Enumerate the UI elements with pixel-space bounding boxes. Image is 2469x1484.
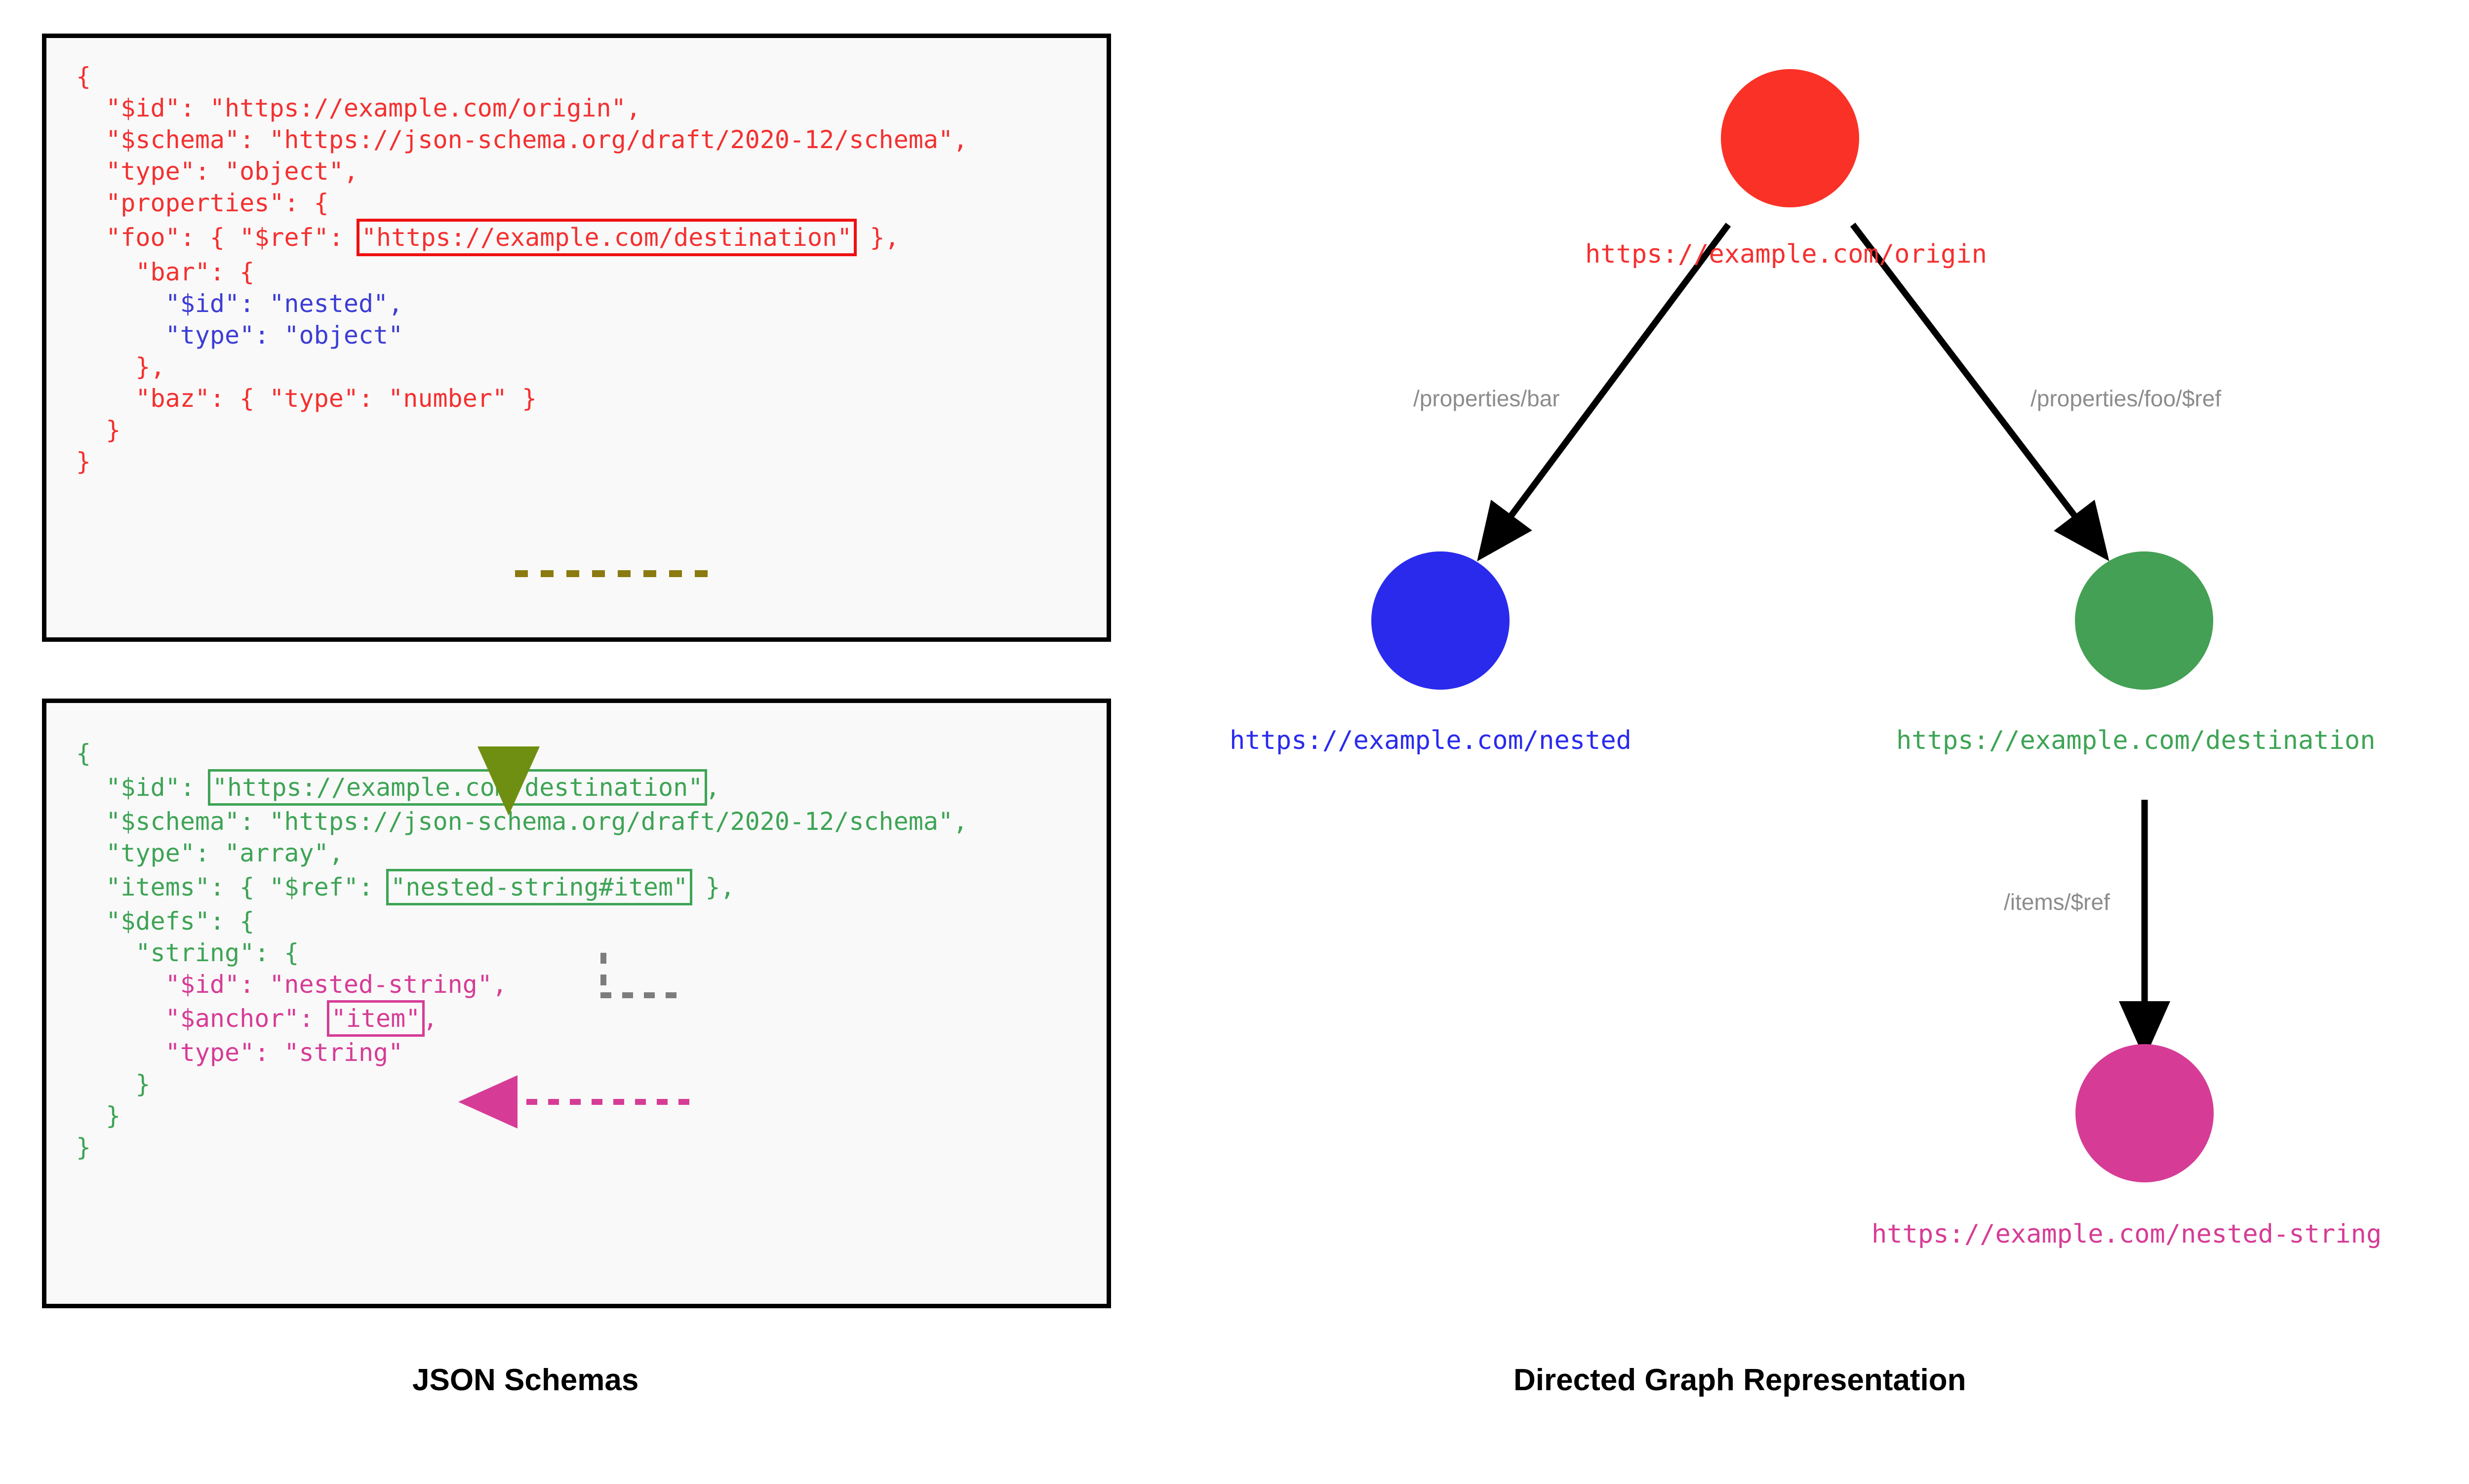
code-line: } <box>76 1133 91 1162</box>
code-line-foo-ref: "foo": { "$ref": "https://example.com/de… <box>76 223 900 252</box>
code-line-items-ref: "items": { "$ref": "nested-string#item" … <box>76 873 735 901</box>
foo-ref-prefix: "foo": { "$ref": <box>76 223 358 252</box>
code-line-anchor: "$anchor": "item", <box>76 1004 438 1033</box>
graph-edge-label-items-ref: /items/$ref <box>2004 889 2110 915</box>
code-line: "baz": { "type": "number" } <box>76 384 537 413</box>
schema-code-origin: { "$id": "https://example.com/origin", "… <box>76 61 968 477</box>
schema-panel-destination: { "$id": "https://example.com/destinatio… <box>42 699 1111 1308</box>
graph-node-label-destination: https://example.com/destination <box>1896 726 2376 755</box>
code-line: } <box>76 1101 120 1130</box>
items-prefix: "items": { "$ref": <box>76 873 388 901</box>
code-line: "string": { <box>76 938 299 967</box>
code-line: "type": "object" <box>76 321 403 350</box>
code-line: "bar": { <box>76 258 254 286</box>
graph-node-label-nested-string: https://example.com/nested-string <box>1872 1219 2382 1249</box>
highlight-ref-nested-string-item: "nested-string#item" <box>386 869 692 905</box>
anchor-prefix: "$anchor": <box>76 1004 329 1033</box>
code-line: "properties": { <box>76 189 329 217</box>
schema-code-destination: { "$id": "https://example.com/destinatio… <box>76 738 968 1163</box>
caption-json-schemas: JSON Schemas <box>412 1363 638 1398</box>
code-line: "$schema": "https://json-schema.org/draf… <box>76 125 968 154</box>
anchor-suffix: , <box>423 1004 438 1033</box>
code-line: "$id": "nested", <box>76 289 403 318</box>
code-line: { <box>76 62 91 91</box>
code-line: "$id": "nested-string", <box>76 970 507 999</box>
graph-node-label-origin: https://example.com/origin <box>1585 239 1987 269</box>
items-suffix: }, <box>690 873 735 901</box>
highlight-ref-destination: "https://example.com/destination" <box>357 219 857 256</box>
graph-edge-origin-to-nested <box>1496 225 1728 536</box>
code-line: "$id": "https://example.com/origin", <box>76 94 641 122</box>
code-line: }, <box>76 352 165 381</box>
id-suffix: , <box>705 773 720 802</box>
highlight-anchor-item: "item" <box>327 1000 425 1037</box>
graph-node-origin[interactable] <box>1721 69 1859 207</box>
foo-ref-suffix: }, <box>855 223 899 252</box>
code-line: "type": "string" <box>76 1038 403 1067</box>
code-line: } <box>76 1070 151 1098</box>
graph-node-label-nested: https://example.com/nested <box>1230 726 1632 755</box>
code-line: "$defs": { <box>76 907 254 936</box>
schema-panel-origin: { "$id": "https://example.com/origin", "… <box>42 34 1111 642</box>
code-line: "$schema": "https://json-schema.org/draf… <box>76 807 968 836</box>
graph-node-nested[interactable] <box>1371 551 1510 690</box>
graph-edge-origin-to-destination <box>1853 225 2090 536</box>
code-line: { <box>76 739 91 768</box>
figure-canvas: { "$id": "https://example.com/origin", "… <box>0 0 2469 1484</box>
code-line: "type": "object", <box>76 157 358 186</box>
code-line-id: "$id": "https://example.com/destination"… <box>76 773 720 802</box>
graph-edge-label-properties-bar: /properties/bar <box>1413 385 1560 412</box>
graph-node-destination[interactable] <box>2075 551 2213 690</box>
code-line: } <box>76 447 91 476</box>
graph-edge-label-properties-foo-ref: /properties/foo/$ref <box>2031 385 2221 412</box>
highlight-id-destination: "https://example.com/destination" <box>208 769 707 806</box>
code-line: "type": "array", <box>76 839 344 867</box>
code-line: } <box>76 416 120 444</box>
id-prefix: "$id": <box>76 773 210 802</box>
caption-directed-graph: Directed Graph Representation <box>1513 1363 1966 1398</box>
graph-node-nested-string[interactable] <box>2075 1044 2214 1182</box>
